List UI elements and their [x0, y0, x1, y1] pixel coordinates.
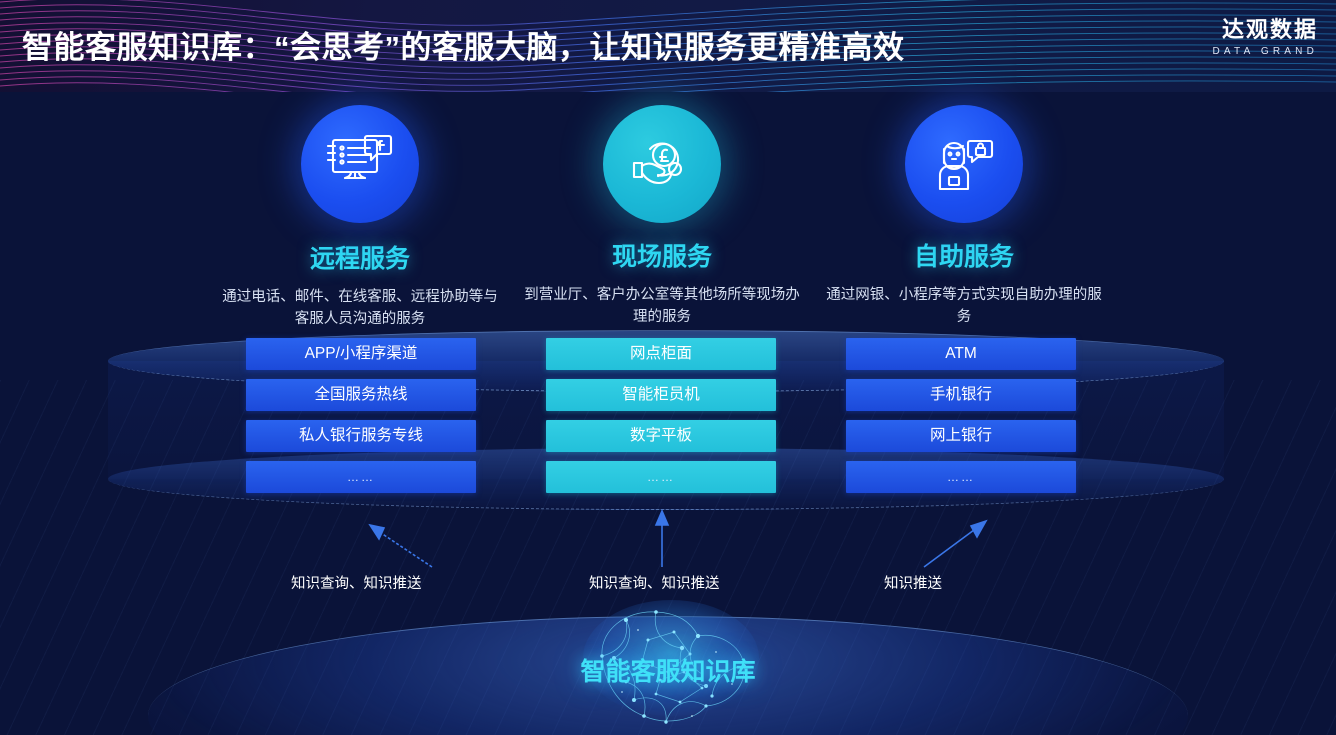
channel-item[interactable]: 全国服务热线 [246, 379, 476, 411]
slide-header: 智能客服知识库：“会思考”的客服大脑，让知识服务更精准高效 达观数据 DATA … [0, 0, 1336, 92]
channel-item[interactable]: 智能柜员机 [546, 379, 776, 411]
monitor-chat-icon [301, 105, 419, 223]
brand-logo: 达观数据 DATA GRAND [1212, 18, 1318, 57]
service-column-remote: 远程服务 通过电话、邮件、在线客服、远程协助等与客服人员沟通的服务 [210, 105, 510, 331]
service-title-selfservice: 自助服务 [814, 237, 1114, 273]
flow-label-remote: 知识查询、知识推送 [291, 572, 422, 593]
channel-item-more[interactable]: …… [846, 461, 1076, 493]
service-column-selfservice: 自助服务 通过网银、小程序等方式实现自助办理的服务 [814, 105, 1114, 329]
channel-list-remote: APP/小程序渠道 全国服务热线 私人银行服务专线 …… [246, 338, 476, 502]
service-description-remote: 通过电话、邮件、在线客服、远程协助等与客服人员沟通的服务 [210, 287, 510, 331]
flow-label-selfservice: 知识推送 [884, 572, 942, 593]
person-lock-icon [905, 105, 1023, 223]
channel-item[interactable]: ATM [846, 338, 1076, 370]
hand-coin-icon [603, 105, 721, 223]
page-title: 智能客服知识库：“会思考”的客服大脑，让知识服务更精准高效 [22, 22, 905, 67]
channel-item[interactable]: 私人银行服务专线 [246, 420, 476, 452]
logo-text-cn: 达观数据 [1212, 18, 1318, 42]
channel-item-more[interactable]: …… [546, 461, 776, 493]
channel-item[interactable]: 数字平板 [546, 420, 776, 452]
flow-label-onsite: 知识查询、知识推送 [589, 572, 720, 593]
channel-list-onsite: 网点柜面 智能柜员机 数字平板 …… [546, 338, 776, 502]
channel-item[interactable]: 手机银行 [846, 379, 1076, 411]
channel-item[interactable]: 网上银行 [846, 420, 1076, 452]
knowledge-base-label: 智能客服知识库 [580, 652, 755, 688]
slide-canvas: 智能客服知识库：“会思考”的客服大脑，让知识服务更精准高效 达观数据 DATA … [0, 0, 1336, 735]
service-description-onsite: 到营业厅、客户办公室等其他场所等现场办理的服务 [512, 285, 812, 329]
service-column-onsite: 现场服务 到营业厅、客户办公室等其他场所等现场办理的服务 [512, 105, 812, 329]
service-title-onsite: 现场服务 [512, 237, 812, 273]
service-title-remote: 远程服务 [210, 239, 510, 275]
logo-text-en: DATA GRAND [1212, 46, 1318, 57]
channel-item[interactable]: APP/小程序渠道 [246, 338, 476, 370]
service-description-selfservice: 通过网银、小程序等方式实现自助办理的服务 [814, 285, 1114, 329]
channel-list-selfservice: ATM 手机银行 网上银行 …… [846, 338, 1076, 502]
channel-item[interactable]: 网点柜面 [546, 338, 776, 370]
channel-item-more[interactable]: …… [246, 461, 476, 493]
